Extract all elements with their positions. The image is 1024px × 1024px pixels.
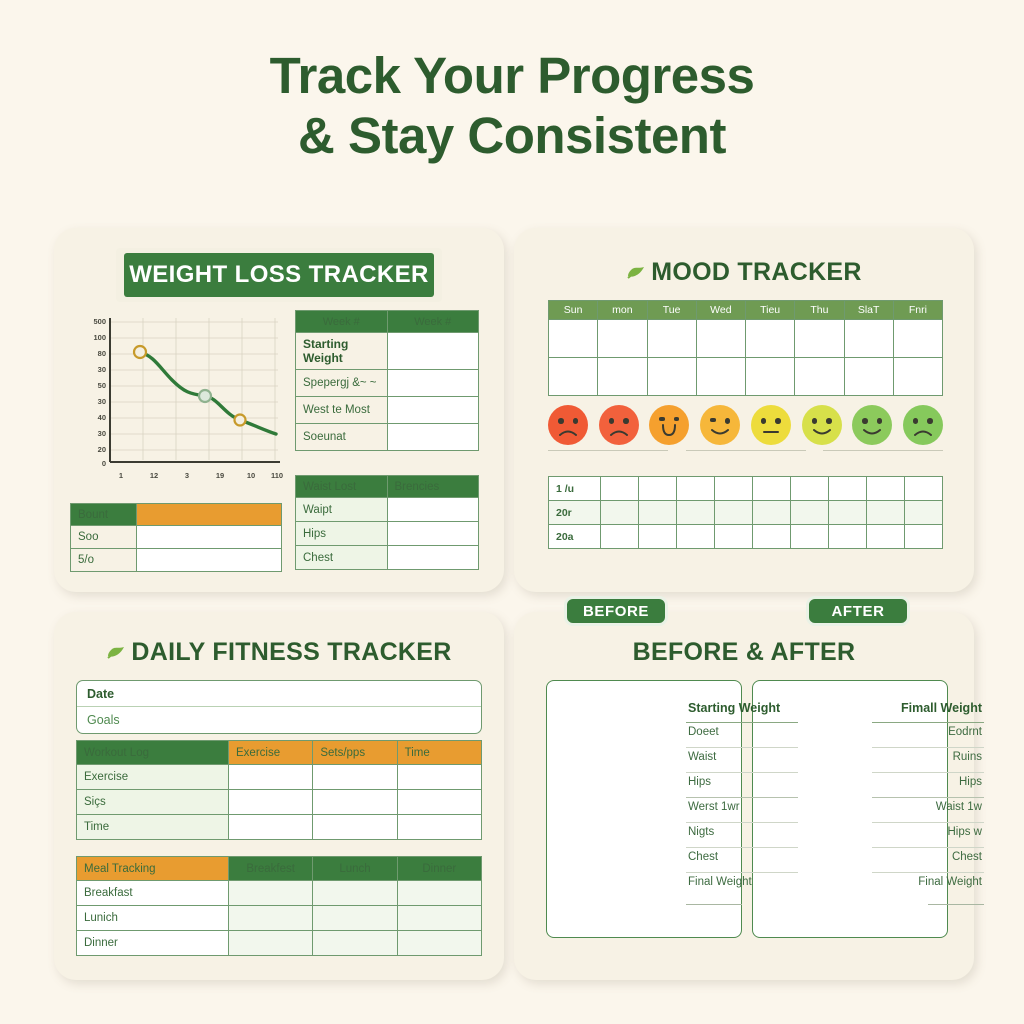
x-tick-3: 19 bbox=[216, 471, 224, 480]
table-header-row: Week # Week # bbox=[296, 311, 479, 333]
table-row: 1 /u bbox=[549, 477, 943, 501]
divider bbox=[823, 450, 943, 451]
x-tick-5: 110 bbox=[271, 471, 283, 480]
row-value-cell[interactable] bbox=[397, 815, 481, 840]
grid-cell[interactable] bbox=[639, 477, 677, 501]
after-badge: AFTER bbox=[806, 596, 910, 626]
date-goals-box: Date Goals bbox=[76, 680, 482, 734]
table-header-row: Meal Tracking Breakfest Lunch Dinner bbox=[77, 857, 482, 881]
row-value-cell[interactable] bbox=[397, 881, 481, 906]
x-tick-4: 10 bbox=[247, 471, 255, 480]
week-col-1-header: Week # bbox=[296, 311, 388, 333]
meal-tracking-header: Meal Tracking bbox=[77, 857, 229, 881]
row-value-cell[interactable] bbox=[313, 815, 397, 840]
meal-tracking-table: Meal Tracking Breakfest Lunch Dinner Bre… bbox=[76, 856, 482, 956]
bottom-table-header-blank bbox=[137, 504, 282, 526]
mood-tracker-card: MOOD TRACKER Sun mon Tue Wed Tieu Thu Sl… bbox=[514, 228, 974, 592]
row-label-breakfast: Breakfast bbox=[77, 881, 229, 906]
breakfast-header: Breakfest bbox=[229, 857, 313, 881]
y-tick-8: 20 bbox=[98, 445, 106, 454]
face-smile-open-icon[interactable] bbox=[649, 405, 689, 445]
eye bbox=[573, 418, 579, 424]
goals-label[interactable]: Goals bbox=[77, 707, 481, 733]
mouth-frown bbox=[609, 428, 629, 436]
table-row: Soeunat bbox=[296, 424, 479, 451]
grid-cell[interactable] bbox=[639, 501, 677, 525]
grid-cell[interactable] bbox=[677, 525, 715, 549]
row-value-cell[interactable] bbox=[387, 522, 479, 546]
table-row bbox=[549, 320, 943, 358]
weight-line-chart: 500 100 80 30 50 30 40 30 20 0 1 12 3 19 bbox=[68, 310, 290, 490]
after-measurement-list: Fimall Weight Eodrnt Ruins Hips Waist 1w… bbox=[872, 698, 984, 905]
table-row: Siçs bbox=[77, 790, 482, 815]
workout-log-table: Workout Log Exercise Sets/pps Time Exerc… bbox=[76, 740, 482, 840]
title-line-1: Track Your Progress bbox=[0, 46, 1024, 106]
grid-cell[interactable] bbox=[601, 525, 639, 549]
table-row: Exercise bbox=[77, 765, 482, 790]
row-label-starting-weight: Starting Weight bbox=[296, 333, 388, 370]
mouth-flat bbox=[761, 428, 781, 436]
table-header-row: Sun mon Tue Wed Tieu Thu SlaT Fnri bbox=[549, 301, 943, 320]
before-after-title: BEFORE & AFTER bbox=[514, 638, 974, 667]
eye bbox=[775, 418, 781, 424]
before-item-chest[interactable]: Chest bbox=[686, 848, 798, 873]
face-smile-3-icon[interactable] bbox=[852, 405, 892, 445]
row-value-cell[interactable] bbox=[387, 546, 479, 570]
time-header: Time bbox=[397, 741, 481, 765]
row-value-cell[interactable] bbox=[229, 906, 313, 931]
row-value-cell[interactable] bbox=[397, 931, 481, 956]
row-label-sets: Siçs bbox=[77, 790, 229, 815]
day-header-fri: Fnri bbox=[893, 301, 942, 320]
before-item-6[interactable]: Nigts bbox=[686, 823, 798, 848]
mood-cell[interactable] bbox=[549, 320, 598, 358]
mouth-smile-open bbox=[659, 424, 679, 432]
y-tick-5: 30 bbox=[98, 397, 106, 406]
lunch-header: Lunch bbox=[313, 857, 397, 881]
before-measurement-list: Starting Weight Doeet Waist Hips Werst 1… bbox=[686, 698, 798, 905]
weight-bottom-table: Bount Soo 5/o bbox=[70, 503, 282, 572]
dinner-header: Dinner bbox=[397, 857, 481, 881]
before-after-card: BEFORE & AFTER BEFORE AFTER bbox=[514, 612, 974, 980]
eye bbox=[812, 418, 818, 424]
weight-banner-frame: WEIGHT LOSS TRACKER bbox=[116, 248, 442, 302]
mood-cell[interactable] bbox=[844, 320, 893, 358]
grid-cell[interactable] bbox=[753, 477, 791, 501]
row-value-cell[interactable] bbox=[229, 790, 313, 815]
mood-cell[interactable] bbox=[893, 358, 942, 396]
table-row: 20a bbox=[549, 525, 943, 549]
after-final-weight-label: Fimall Weight bbox=[872, 698, 984, 723]
mood-month-grid: 1 /u 20r 20a bbox=[548, 476, 943, 549]
day-header-thu: Tieu bbox=[746, 301, 795, 320]
y-tick-7: 30 bbox=[98, 429, 106, 438]
row-label-chest: Chest bbox=[296, 546, 388, 570]
row-label: 5/o bbox=[71, 549, 137, 572]
row-value-cell[interactable] bbox=[229, 881, 313, 906]
face-sad-3-icon[interactable] bbox=[903, 405, 943, 445]
grid-cell[interactable] bbox=[715, 501, 753, 525]
row-value-cell[interactable] bbox=[229, 931, 313, 956]
grid-cell[interactable] bbox=[601, 477, 639, 501]
title-line-2: & Stay Consistent bbox=[0, 106, 1024, 166]
table-row: Spepergj &~ ~ bbox=[296, 370, 479, 397]
grid-cell[interactable] bbox=[829, 525, 867, 549]
day-header-sun: Sun bbox=[549, 301, 598, 320]
grid-cell[interactable] bbox=[753, 501, 791, 525]
eye bbox=[862, 418, 868, 424]
weight-banner-title: WEIGHT LOSS TRACKER bbox=[124, 253, 434, 297]
grid-cell[interactable] bbox=[677, 477, 715, 501]
eye bbox=[761, 418, 767, 424]
row-value-cell[interactable] bbox=[229, 765, 313, 790]
day-header-sat: SlaT bbox=[844, 301, 893, 320]
grid-cell[interactable] bbox=[867, 501, 905, 525]
workout-log-header: Workout Log bbox=[77, 741, 229, 765]
table-row: Soo bbox=[71, 526, 282, 549]
table-header-row: Waist Lost Brencies bbox=[296, 476, 479, 498]
row-label: 20a bbox=[549, 525, 601, 549]
grid-cell[interactable] bbox=[867, 525, 905, 549]
row-value-cell[interactable] bbox=[313, 881, 397, 906]
grid-cell[interactable] bbox=[791, 477, 829, 501]
mood-cell[interactable] bbox=[893, 320, 942, 358]
face-neutral-icon[interactable] bbox=[751, 405, 791, 445]
row-value-cell[interactable] bbox=[387, 424, 479, 451]
mood-cell[interactable] bbox=[746, 320, 795, 358]
row-value-cell[interactable] bbox=[229, 815, 313, 840]
grid-cell[interactable] bbox=[867, 477, 905, 501]
row-label-dinner: Dinner bbox=[77, 931, 229, 956]
row-label: Soeunat bbox=[296, 424, 388, 451]
mood-cell[interactable] bbox=[647, 320, 696, 358]
before-item-hips[interactable]: Hips bbox=[686, 773, 798, 798]
table-row: Starting Weight bbox=[296, 333, 479, 370]
after-item-2[interactable]: Eodrnt bbox=[872, 723, 984, 748]
waist-lost-table: Waist Lost Brencies Waipt Hips Chest bbox=[295, 475, 479, 570]
row-label: 1 /u bbox=[549, 477, 601, 501]
eye bbox=[826, 418, 832, 424]
row-value-cell[interactable] bbox=[397, 790, 481, 815]
chart-marker-2 bbox=[199, 390, 211, 402]
grid-cell[interactable] bbox=[905, 525, 943, 549]
date-label[interactable]: Date bbox=[77, 681, 481, 707]
row-label-hips: Hips bbox=[296, 522, 388, 546]
page-title: Track Your Progress & Stay Consistent bbox=[0, 46, 1024, 166]
leaf-icon bbox=[106, 640, 126, 669]
table-header-row: Bount bbox=[71, 504, 282, 526]
x-tick-0: 1 bbox=[119, 471, 123, 480]
eye bbox=[877, 418, 883, 424]
x-tick-1: 12 bbox=[150, 471, 158, 480]
row-value-cell[interactable] bbox=[397, 765, 481, 790]
grid-cell[interactable] bbox=[753, 525, 791, 549]
before-final-weight-label: Final Weight bbox=[686, 873, 798, 898]
mood-cell[interactable] bbox=[844, 358, 893, 396]
eye bbox=[710, 418, 716, 422]
y-tick-2: 80 bbox=[98, 349, 106, 358]
eye bbox=[623, 418, 629, 424]
before-item-waist[interactable]: Waist bbox=[686, 748, 798, 773]
after-item-3[interactable]: Ruins bbox=[872, 748, 984, 773]
row-value-cell[interactable] bbox=[387, 370, 479, 397]
daily-fitness-tracker-card: DAILY FITNESS TRACKER Date Goals Workout… bbox=[54, 612, 504, 980]
table-row bbox=[549, 358, 943, 396]
chart-svg: 500 100 80 30 50 30 40 30 20 0 1 12 3 19 bbox=[68, 310, 290, 490]
sets-reps-header: Sets/pps bbox=[313, 741, 397, 765]
row-label-exercise: Exercise bbox=[77, 765, 229, 790]
mood-cell[interactable] bbox=[598, 358, 647, 396]
grid-cell[interactable] bbox=[791, 501, 829, 525]
eye bbox=[558, 418, 564, 424]
eye bbox=[659, 417, 665, 421]
branches-header: Brencies bbox=[387, 476, 479, 498]
y-tick-9: 0 bbox=[102, 459, 106, 468]
table-row: West te Most bbox=[296, 397, 479, 424]
exercise-header: Exercise bbox=[229, 741, 313, 765]
table-row: Hips bbox=[296, 522, 479, 546]
bottom-table-header: Bount bbox=[71, 504, 137, 526]
grid-cell[interactable] bbox=[601, 501, 639, 525]
table-row: Time bbox=[77, 815, 482, 840]
poster-page: Track Your Progress & Stay Consistent WE… bbox=[0, 0, 1024, 1024]
mouth-smile bbox=[812, 428, 832, 436]
mood-cell[interactable] bbox=[746, 358, 795, 396]
grid-cell[interactable] bbox=[677, 501, 715, 525]
weight-loss-tracker-card: WEIGHT LOSS TRACKER bbox=[54, 228, 504, 592]
mouth-smile bbox=[862, 428, 882, 436]
divider bbox=[548, 450, 668, 451]
table-row: 20r bbox=[549, 501, 943, 525]
row-value-cell[interactable] bbox=[313, 931, 397, 956]
day-header-mon: mon bbox=[598, 301, 647, 320]
grid-cell[interactable] bbox=[905, 501, 943, 525]
x-tick-2: 3 bbox=[185, 471, 189, 480]
eye bbox=[913, 418, 919, 424]
mood-tracker-heading-row: MOOD TRACKER bbox=[514, 258, 974, 289]
eye bbox=[927, 418, 933, 424]
row-label-lunch: Lunich bbox=[77, 906, 229, 931]
row-label-waist: Waipt bbox=[296, 498, 388, 522]
y-tick-4: 50 bbox=[98, 381, 106, 390]
face-smile-1-icon[interactable] bbox=[700, 405, 740, 445]
eye bbox=[674, 417, 680, 421]
table-row: Breakfast bbox=[77, 881, 482, 906]
week-summary-table: Week # Week # Starting Weight Spepergj &… bbox=[295, 310, 479, 451]
mood-cell[interactable] bbox=[696, 320, 745, 358]
row-label-time: Time bbox=[77, 815, 229, 840]
mouth-smile bbox=[710, 428, 730, 436]
table-header-row: Workout Log Exercise Sets/pps Time bbox=[77, 741, 482, 765]
eye bbox=[609, 418, 615, 424]
after-item-waist[interactable]: Waist 1w bbox=[872, 798, 984, 823]
mood-cell[interactable] bbox=[549, 358, 598, 396]
leaf-icon bbox=[626, 260, 646, 289]
mood-cell[interactable] bbox=[598, 320, 647, 358]
divider bbox=[686, 450, 806, 451]
table-row: Waipt bbox=[296, 498, 479, 522]
mood-cell[interactable] bbox=[647, 358, 696, 396]
chart-marker-3 bbox=[235, 415, 246, 426]
row-value-cell[interactable] bbox=[387, 397, 479, 424]
y-tick-1: 100 bbox=[93, 333, 106, 342]
grid-cell[interactable] bbox=[791, 525, 829, 549]
mood-cell[interactable] bbox=[696, 358, 745, 396]
row-value-cell[interactable] bbox=[387, 498, 479, 522]
row-value-cell[interactable] bbox=[137, 526, 282, 549]
y-tick-3: 30 bbox=[98, 365, 106, 374]
before-final-weight-rule bbox=[686, 904, 742, 905]
y-tick-0: 500 bbox=[93, 317, 106, 326]
grid-cell[interactable] bbox=[905, 477, 943, 501]
grid-cell[interactable] bbox=[639, 525, 677, 549]
daily-heading-row: DAILY FITNESS TRACKER bbox=[54, 638, 504, 669]
daily-fitness-title: DAILY FITNESS TRACKER bbox=[131, 638, 451, 666]
day-header-wed: Wed bbox=[696, 301, 745, 320]
face-sad-2-icon[interactable] bbox=[599, 405, 639, 445]
grid-cell[interactable] bbox=[829, 501, 867, 525]
y-tick-6: 40 bbox=[98, 413, 106, 422]
row-value-cell[interactable] bbox=[397, 906, 481, 931]
row-label: West te Most bbox=[296, 397, 388, 424]
mood-cell[interactable] bbox=[795, 358, 844, 396]
face-sad-1-icon[interactable] bbox=[548, 405, 588, 445]
mood-face-scale bbox=[548, 405, 943, 445]
row-value-cell[interactable] bbox=[387, 333, 479, 370]
before-starting-weight-label: Starting Weight bbox=[686, 698, 798, 723]
grid-cell[interactable] bbox=[829, 477, 867, 501]
table-row: Lunich bbox=[77, 906, 482, 931]
mouth-frown bbox=[558, 428, 578, 436]
row-label: Spepergj &~ ~ bbox=[296, 370, 388, 397]
waist-lost-header: Waist Lost bbox=[296, 476, 388, 498]
after-item-chest[interactable]: Chest bbox=[872, 848, 984, 873]
day-header-thu2: Thu bbox=[795, 301, 844, 320]
grid-cell[interactable] bbox=[715, 477, 753, 501]
before-badge: BEFORE bbox=[564, 596, 668, 626]
after-item-hips-2[interactable]: Hips w bbox=[872, 823, 984, 848]
chart-marker-1 bbox=[134, 346, 146, 358]
before-item-5[interactable]: Werst 1wr bbox=[686, 798, 798, 823]
table-row: 5/o bbox=[71, 549, 282, 572]
row-value-cell[interactable] bbox=[313, 906, 397, 931]
grid-cell[interactable] bbox=[715, 525, 753, 549]
after-final-weight-rule bbox=[928, 904, 984, 905]
row-value-cell[interactable] bbox=[137, 549, 282, 572]
table-row: Chest bbox=[296, 546, 479, 570]
day-header-tue: Tue bbox=[647, 301, 696, 320]
after-final-weight-label-2: Final Weight bbox=[872, 873, 984, 898]
table-row: Dinner bbox=[77, 931, 482, 956]
face-smile-2-icon[interactable] bbox=[802, 405, 842, 445]
mood-cell[interactable] bbox=[795, 320, 844, 358]
before-item-2[interactable]: Doeet bbox=[686, 723, 798, 748]
mood-tracker-title: MOOD TRACKER bbox=[651, 258, 862, 286]
row-value-cell[interactable] bbox=[313, 765, 397, 790]
row-label: Soo bbox=[71, 526, 137, 549]
eye bbox=[725, 418, 731, 424]
mood-divider-row bbox=[548, 450, 943, 451]
after-item-hips[interactable]: Hips bbox=[872, 773, 984, 798]
week-col-2-header: Week # bbox=[387, 311, 479, 333]
mood-week-grid: Sun mon Tue Wed Tieu Thu SlaT Fnri bbox=[548, 300, 943, 396]
row-label: 20r bbox=[549, 501, 601, 525]
row-value-cell[interactable] bbox=[313, 790, 397, 815]
mouth-frown bbox=[913, 428, 933, 436]
